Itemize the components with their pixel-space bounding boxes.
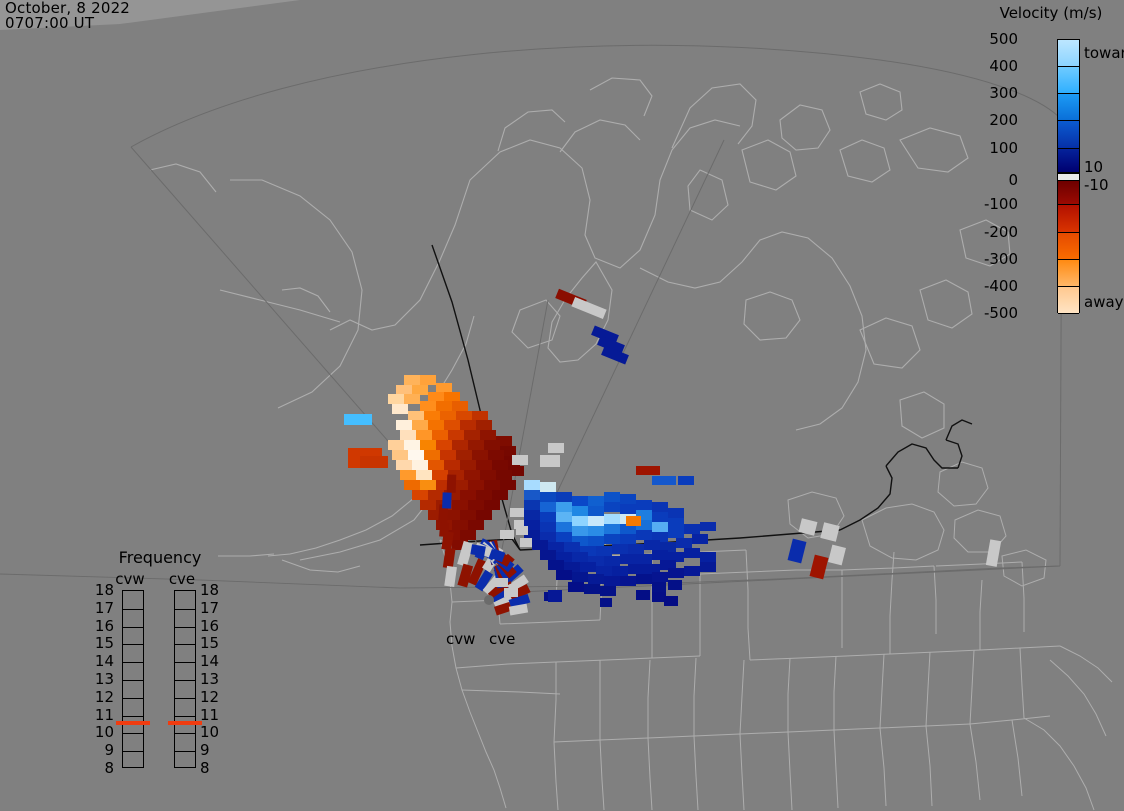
frequency-label-cvw-16: 16 xyxy=(92,617,114,635)
frequency-label-cve-8: 8 xyxy=(200,759,222,777)
colorbar-tick-neg300: -300 xyxy=(984,250,1018,268)
frequency-tick-cvw-10 xyxy=(123,733,143,734)
colorbar-band-3 xyxy=(1058,121,1079,148)
colorbar-band-7 xyxy=(1058,233,1079,260)
frequency-label-cve-17: 17 xyxy=(200,599,222,617)
colorbar-tick-200: 200 xyxy=(989,111,1018,129)
frequency-tick-cve-10 xyxy=(175,733,195,734)
frequency-label-cve-16: 16 xyxy=(200,617,222,635)
frequency-tick-cve-15 xyxy=(175,644,195,645)
colorbar-tick-300: 300 xyxy=(989,84,1018,102)
colorbar-band-8 xyxy=(1058,260,1079,287)
frequency-label-cve-15: 15 xyxy=(200,634,222,652)
colorbar-tick-neg500: -500 xyxy=(984,304,1018,322)
colorbar-toward-label: toward xyxy=(1084,44,1124,62)
frequency-tick-cvw-9 xyxy=(123,751,143,752)
colorbar-tick-0: 0 xyxy=(1008,171,1018,189)
frequency-tick-cvw-15 xyxy=(123,644,143,645)
colorbar-band-0 xyxy=(1058,40,1079,67)
frequency-title: Frequency xyxy=(80,548,240,567)
colorbar-band-1 xyxy=(1058,67,1079,94)
frequency-tick-cve-16 xyxy=(175,627,195,628)
colorbar-tick-400: 400 xyxy=(989,57,1018,75)
colorbar-zero-band xyxy=(1058,173,1079,181)
frequency-label-cvw-11: 11 xyxy=(92,706,114,724)
frequency-tick-cve-9 xyxy=(175,751,195,752)
frequency-label-cve-13: 13 xyxy=(200,670,222,688)
frequency-label-cvw-10: 10 xyxy=(92,723,114,741)
frequency-scale-cvw xyxy=(122,590,144,768)
frequency-tick-cve-14 xyxy=(175,662,195,663)
frequency-tick-cve-13 xyxy=(175,680,195,681)
frequency-radar-name-cvw: cvw xyxy=(110,570,150,588)
time-text: 0707:00 UT xyxy=(5,16,130,31)
frequency-label-cve-18: 18 xyxy=(200,581,222,599)
colorbar-band-6 xyxy=(1058,205,1079,232)
colorbar-tick-100: 100 xyxy=(989,139,1018,157)
frequency-tick-cve-12 xyxy=(175,698,195,699)
frequency-tick-cvw-11 xyxy=(123,716,143,717)
frequency-label-cvw-15: 15 xyxy=(92,634,114,652)
frequency-tick-cvw-12 xyxy=(123,698,143,699)
radar-fan-plot: October, 8 2022 0707:00 UT cvw cve Veloc… xyxy=(0,0,1124,811)
frequency-tick-cvw-13 xyxy=(123,680,143,681)
frequency-label-cvw-17: 17 xyxy=(92,599,114,617)
frequency-label-cve-12: 12 xyxy=(200,688,222,706)
frequency-label-cvw-9: 9 xyxy=(92,741,114,759)
frequency-label-cvw-8: 8 xyxy=(92,759,114,777)
frequency-label-cvw-18: 18 xyxy=(92,581,114,599)
colorbar-gradient xyxy=(1057,39,1080,313)
velocity-colorbar: Velocity (m/s) 5004003002001000-100-200-… xyxy=(978,0,1124,330)
colorbar-neg-threshold-label: -10 xyxy=(1084,176,1109,194)
frequency-tick-cve-11 xyxy=(175,716,195,717)
frequency-label-cve-14: 14 xyxy=(200,652,222,670)
colorbar-tick-neg200: -200 xyxy=(984,223,1018,241)
frequency-scale-cve xyxy=(174,590,196,768)
frequency-tick-cvw-17 xyxy=(123,609,143,610)
colorbar-pos-threshold-label: 10 xyxy=(1084,158,1103,176)
frequency-label-cvw-12: 12 xyxy=(92,688,114,706)
colorbar-tick-500: 500 xyxy=(989,30,1018,48)
site-label-cve: cve xyxy=(489,630,515,648)
frequency-marker-cvw xyxy=(116,721,150,725)
colorbar-band-9 xyxy=(1058,287,1079,314)
frequency-marker-cve xyxy=(168,721,202,725)
colorbar-away-label: away xyxy=(1084,293,1124,311)
frequency-label-cve-10: 10 xyxy=(200,723,222,741)
colorbar-tick-neg400: -400 xyxy=(984,277,1018,295)
frequency-radar-name-cve: cve xyxy=(162,570,202,588)
colorbar-band-4 xyxy=(1058,149,1079,173)
frequency-label-cvw-13: 13 xyxy=(92,670,114,688)
frequency-label-cve-11: 11 xyxy=(200,706,222,724)
frequency-label-cve-9: 9 xyxy=(200,741,222,759)
colorbar-band-2 xyxy=(1058,94,1079,121)
colorbar-band-5 xyxy=(1058,181,1079,205)
colorbar-tick-neg100: -100 xyxy=(984,195,1018,213)
colorbar-title: Velocity (m/s) xyxy=(980,4,1122,22)
frequency-panel: Frequency cvw18171615141312111098cve1817… xyxy=(80,548,240,783)
timestamp-block: October, 8 2022 0707:00 UT xyxy=(5,1,130,31)
frequency-tick-cvw-16 xyxy=(123,627,143,628)
frequency-label-cvw-14: 14 xyxy=(92,652,114,670)
frequency-tick-cve-17 xyxy=(175,609,195,610)
site-label-cvw: cvw xyxy=(446,630,475,648)
frequency-tick-cvw-14 xyxy=(123,662,143,663)
